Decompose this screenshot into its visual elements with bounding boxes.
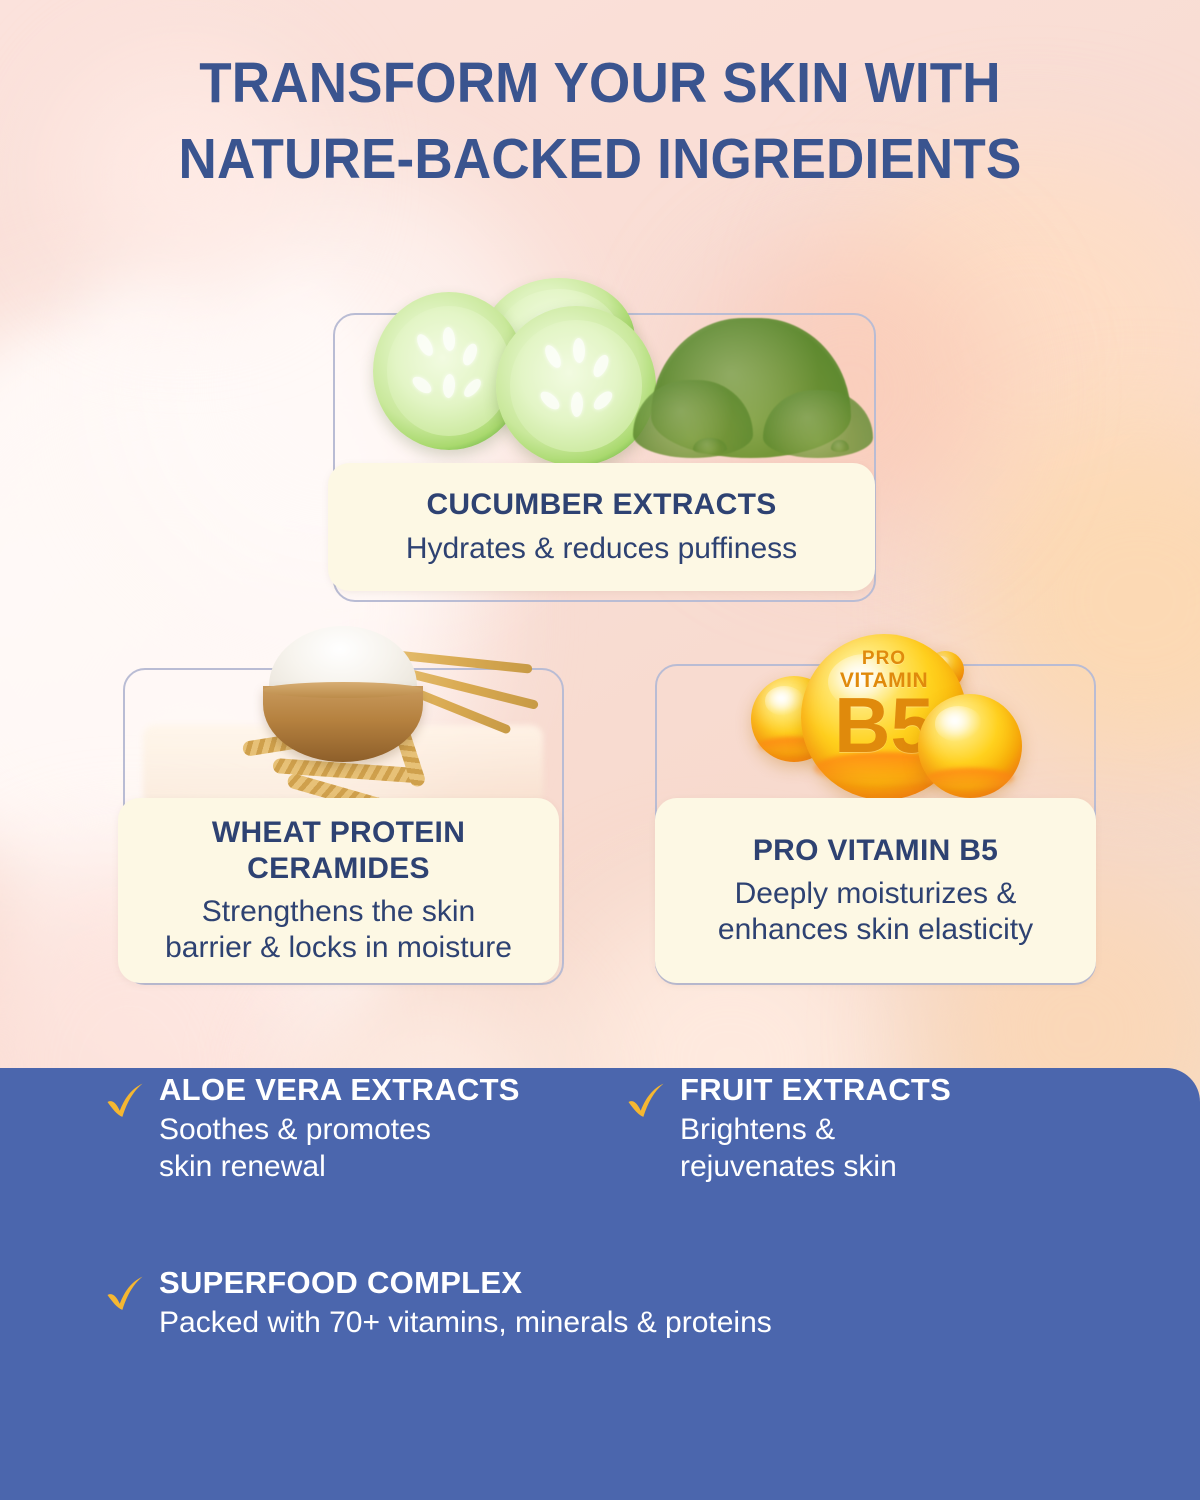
benefit-item-fruit-extracts: FRUIT EXTRACTS Brightens & rejuvenates s… <box>625 1073 951 1185</box>
benefit-title: ALOE VERA EXTRACTS <box>159 1073 520 1107</box>
check-icon <box>625 1081 667 1123</box>
pro-vitamin-b5-label-box: PRO VITAMIN B5 Deeply moisturizes & enha… <box>655 798 1096 983</box>
headline-line-2: NATURE-BACKED INGREDIENTS <box>42 122 1158 198</box>
benefit-item-superfood-complex: SUPERFOOD COMPLEX Packed with 70+ vitami… <box>104 1266 772 1342</box>
benefit-desc: Soothes & promotes skin renewal <box>159 1112 520 1185</box>
benefit-desc-line-1: Packed with 70+ vitamins, minerals & pro… <box>159 1306 772 1339</box>
benefit-desc: Packed with 70+ vitamins, minerals & pro… <box>159 1305 772 1342</box>
pro-vitamin-b5-title: PRO VITAMIN B5 <box>753 833 998 868</box>
wheat-protein-title: WHEAT PROTEIN CERAMIDES <box>212 815 465 886</box>
cucumber-label-box: CUCUMBER EXTRACTS Hydrates & reduces puf… <box>328 463 875 591</box>
cucumber-desc: Hydrates & reduces puffiness <box>406 531 797 567</box>
wheat-protein-photo <box>123 620 560 820</box>
check-icon <box>104 1274 146 1316</box>
benefit-title: SUPERFOOD COMPLEX <box>159 1266 772 1300</box>
benefit-desc-line-2: rejuvenates skin <box>680 1150 897 1183</box>
wheat-protein-desc-line-1: Strengthens the skin <box>202 895 476 928</box>
cucumber-photo <box>333 270 872 485</box>
check-icon <box>104 1081 146 1123</box>
wheat-protein-title-line-1: WHEAT PROTEIN <box>212 816 465 849</box>
benefit-desc-line-1: Brightens & <box>680 1113 835 1146</box>
benefit-title: FRUIT EXTRACTS <box>680 1073 951 1107</box>
benefit-item-aloe-vera: ALOE VERA EXTRACTS Soothes & promotes sk… <box>104 1073 520 1185</box>
wheat-protein-desc-line-2: barrier & locks in moisture <box>165 931 512 964</box>
pro-vitamin-b5-desc-line-2: enhances skin elasticity <box>718 913 1033 946</box>
page-title: TRANSFORM YOUR SKIN WITH NATURE-BACKED I… <box>42 46 1158 198</box>
pro-vitamin-b5-desc-line-1: Deeply moisturizes & <box>735 877 1017 910</box>
droplet-label-pro: PRO <box>801 648 967 670</box>
pro-vitamin-b5-desc: Deeply moisturizes & enhances skin elast… <box>718 876 1033 948</box>
wheat-protein-label-box: WHEAT PROTEIN CERAMIDES Strengthens the … <box>118 798 559 983</box>
pro-vitamin-b5-photo: PRO VITAMIN B5 <box>655 620 1092 810</box>
benefit-desc-line-2: skin renewal <box>159 1150 326 1183</box>
benefit-desc-line-1: Soothes & promotes <box>159 1113 431 1146</box>
wheat-protein-title-line-2: CERAMIDES <box>247 852 430 885</box>
headline-line-1: TRANSFORM YOUR SKIN WITH <box>42 46 1158 122</box>
cucumber-title: CUCUMBER EXTRACTS <box>426 487 776 522</box>
wheat-protein-desc: Strengthens the skin barrier & locks in … <box>165 894 512 966</box>
benefit-desc: Brightens & rejuvenates skin <box>680 1112 951 1185</box>
vitamin-droplet-right <box>918 694 1022 798</box>
infographic-canvas: TRANSFORM YOUR SKIN WITH NATURE-BACKED I… <box>0 0 1200 1500</box>
